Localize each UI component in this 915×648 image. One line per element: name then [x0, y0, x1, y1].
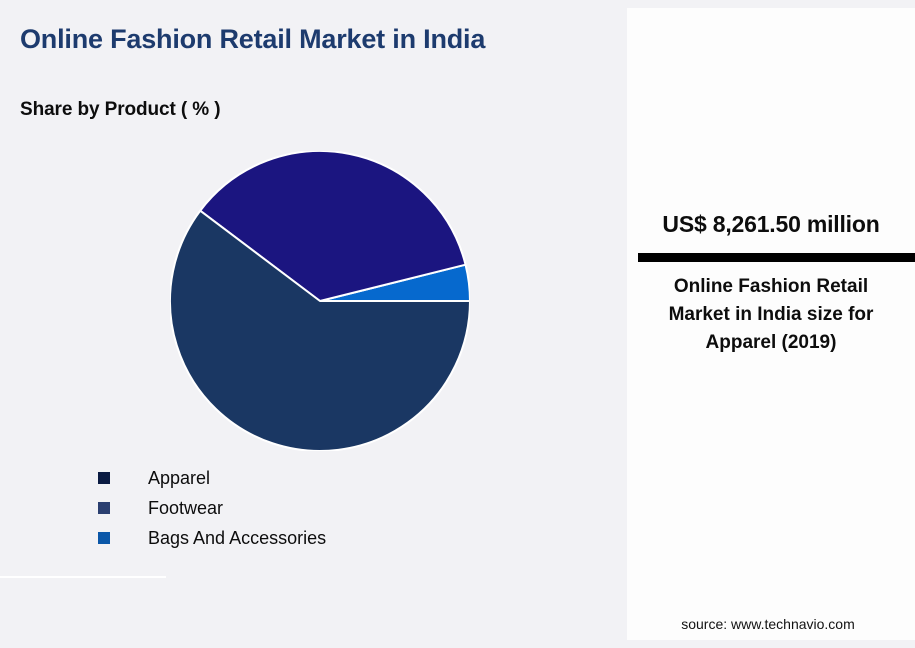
- chart-subtitle: Share by Product ( % ): [20, 99, 221, 121]
- chart-infographic: Online Fashion Retail Market in India Sh…: [0, 0, 915, 648]
- source-note: source: www.technavio.com: [627, 616, 909, 632]
- legend-label-bags-and-accessories: Bags And Accessories: [148, 528, 326, 549]
- legend-swatch-apparel: [98, 472, 110, 484]
- legend-label-apparel: Apparel: [148, 468, 210, 489]
- chart-panel: Online Fashion Retail Market in India Sh…: [0, 0, 627, 648]
- pie-chart: [170, 151, 470, 451]
- legend-item-footwear[interactable]: Footwear: [98, 493, 558, 523]
- page-title: Online Fashion Retail Market in India: [20, 24, 540, 54]
- legend-label-footwear: Footwear: [148, 498, 223, 519]
- kpi-caption: Online Fashion Retail Market in India si…: [645, 273, 897, 357]
- kpi-underline-bar: [638, 253, 915, 262]
- legend-item-apparel[interactable]: Apparel: [98, 463, 558, 493]
- kpi-panel: US$ 8,261.50 million Online Fashion Reta…: [627, 8, 915, 640]
- chart-legend: Apparel Footwear Bags And Accessories: [98, 463, 558, 553]
- legend-swatch-bags-and-accessories: [98, 532, 110, 544]
- legend-item-bags-and-accessories[interactable]: Bags And Accessories: [98, 523, 558, 553]
- footer-divider: [0, 576, 166, 578]
- kpi-value: US$ 8,261.50 million: [627, 211, 915, 238]
- pie-chart-svg: [170, 151, 470, 451]
- legend-swatch-footwear: [98, 502, 110, 514]
